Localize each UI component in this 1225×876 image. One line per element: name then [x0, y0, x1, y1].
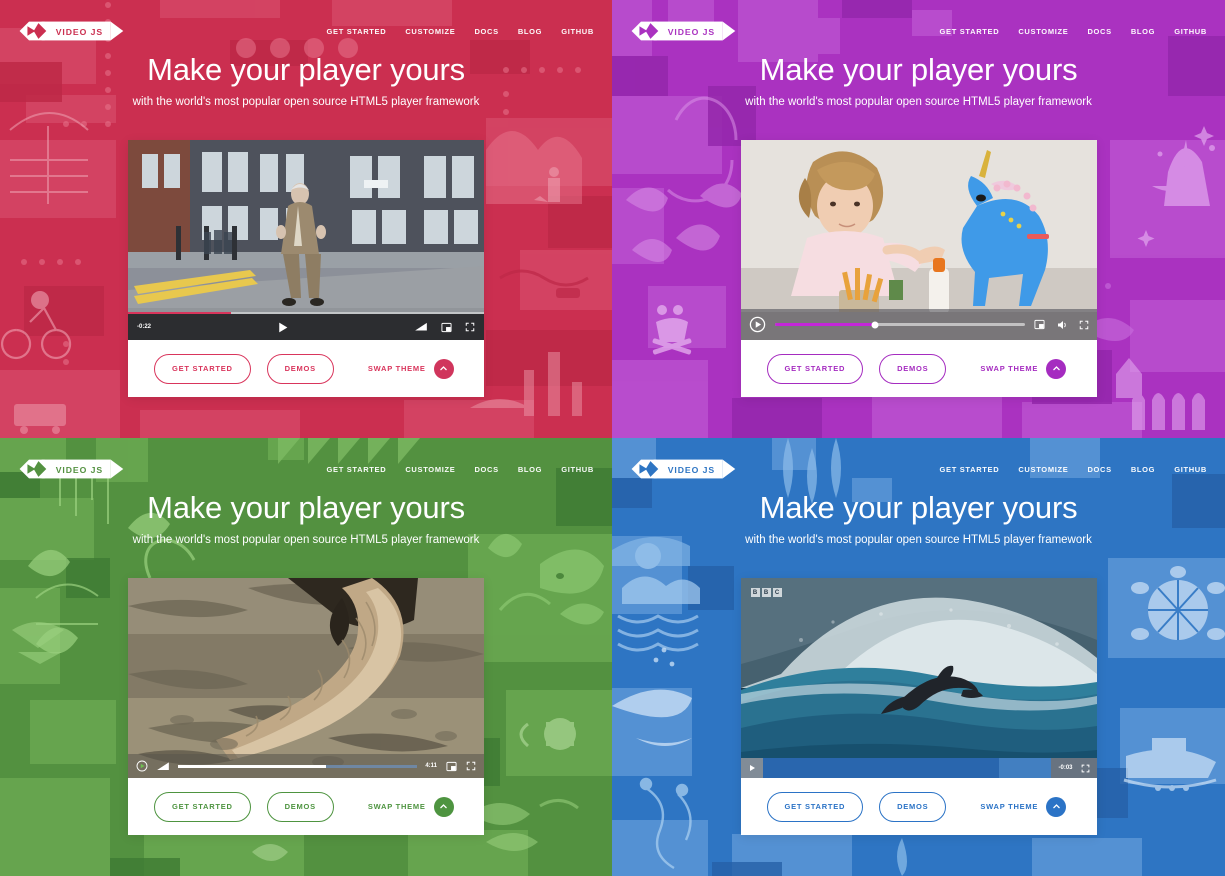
- svg-text:VIDEO JS: VIDEO JS: [56, 27, 103, 37]
- nav-link-docs[interactable]: DOCS: [1087, 27, 1111, 36]
- bbc-logo: B B C: [751, 588, 782, 597]
- theme-gallery-grid: VIDEO JS GET STARTED CUSTOMIZE DOCS BLOG…: [0, 0, 1225, 876]
- player-card-red: -0:22: [128, 140, 484, 397]
- swap-theme-label: SWAP THEME: [980, 802, 1038, 811]
- play-icon[interactable]: [136, 760, 148, 772]
- nav-link-blog[interactable]: BLOG: [518, 465, 542, 474]
- progress-bar[interactable]: [128, 312, 484, 314]
- swap-theme-label: SWAP THEME: [368, 364, 426, 373]
- theme-panel-blue: VIDEO JS GET STARTED CUSTOMIZE DOCS BLOG…: [612, 438, 1225, 876]
- chevron-up-icon[interactable]: [1046, 797, 1066, 817]
- swap-theme-label: SWAP THEME: [368, 802, 426, 811]
- nav-link-get-started[interactable]: GET STARTED: [940, 27, 1000, 36]
- chevron-up-icon[interactable]: [434, 797, 454, 817]
- player-card-green: 4:11 GET STARTED DEMOS SWAP THEME: [128, 578, 484, 835]
- play-icon: [748, 764, 756, 772]
- swap-theme-control[interactable]: SWAP THEME: [368, 359, 454, 379]
- video-still-dolphin-wave: [741, 578, 1097, 778]
- time-display: 4:11: [425, 763, 437, 769]
- videojs-logo-icon: VIDEO JS: [18, 458, 136, 480]
- action-bar: GET STARTED DEMOS SWAP THEME: [128, 778, 484, 835]
- play-button[interactable]: [741, 758, 763, 778]
- nav-link-docs[interactable]: DOCS: [474, 465, 498, 474]
- nav-link-get-started[interactable]: GET STARTED: [940, 465, 1000, 474]
- nav-link-github[interactable]: GITHUB: [561, 465, 594, 474]
- theme-panel-green: VIDEO JS GET STARTED CUSTOMIZE DOCS BLOG…: [0, 438, 612, 876]
- swap-theme-control[interactable]: SWAP THEME: [980, 797, 1066, 817]
- player-card-purple: GET STARTED DEMOS SWAP THEME: [741, 140, 1097, 397]
- fullscreen-icon[interactable]: [1081, 764, 1090, 773]
- get-started-button[interactable]: GET STARTED: [154, 354, 251, 384]
- video-still-elephant-trunk: [128, 578, 484, 778]
- action-bar: GET STARTED DEMOS SWAP THEME: [128, 340, 484, 397]
- get-started-button[interactable]: GET STARTED: [767, 792, 864, 822]
- player-card-blue: B B C -0:03: [741, 578, 1097, 835]
- videojs-logo-icon: VIDEO JS: [630, 20, 748, 42]
- get-started-button[interactable]: GET STARTED: [767, 354, 864, 384]
- progress-bar[interactable]: [178, 765, 417, 768]
- demos-button[interactable]: DEMOS: [267, 792, 334, 822]
- theme-panel-purple: VIDEO JS GET STARTED CUSTOMIZE DOCS BLOG…: [612, 0, 1225, 438]
- nav-link-github[interactable]: GITHUB: [1174, 465, 1207, 474]
- fullscreen-icon[interactable]: [465, 322, 475, 332]
- progress-bar[interactable]: [775, 323, 1025, 326]
- nav-link-get-started[interactable]: GET STARTED: [327, 465, 387, 474]
- main-nav: GET STARTED CUSTOMIZE DOCS BLOG GITHUB: [327, 27, 594, 36]
- videojs-logo[interactable]: VIDEO JS: [630, 458, 748, 480]
- video-player-blue[interactable]: B B C -0:03: [741, 578, 1097, 778]
- player-controls-blue[interactable]: -0:03: [741, 758, 1097, 778]
- svg-text:VIDEO JS: VIDEO JS: [56, 465, 103, 475]
- nav-link-github[interactable]: GITHUB: [1174, 27, 1207, 36]
- video-player-purple[interactable]: [741, 140, 1097, 340]
- action-bar: GET STARTED DEMOS SWAP THEME: [741, 340, 1097, 397]
- play-icon[interactable]: [749, 316, 766, 333]
- nav-link-blog[interactable]: BLOG: [1131, 465, 1155, 474]
- picture-in-picture-icon[interactable]: [1034, 319, 1045, 330]
- play-icon[interactable]: [276, 321, 289, 334]
- volume-icon[interactable]: [156, 761, 170, 772]
- nav-link-customize[interactable]: CUSTOMIZE: [1018, 27, 1068, 36]
- progress-bar[interactable]: [763, 758, 1052, 778]
- nav-link-customize[interactable]: CUSTOMIZE: [1018, 465, 1068, 474]
- site-header: VIDEO JS GET STARTED CUSTOMIZE DOCS BLOG…: [0, 438, 612, 500]
- nav-link-get-started[interactable]: GET STARTED: [327, 27, 387, 36]
- videojs-logo-icon: VIDEO JS: [630, 458, 748, 480]
- theme-panel-red: VIDEO JS GET STARTED CUSTOMIZE DOCS BLOG…: [0, 0, 612, 438]
- demos-button[interactable]: DEMOS: [267, 354, 334, 384]
- site-header: VIDEO JS GET STARTED CUSTOMIZE DOCS BLOG…: [612, 0, 1225, 62]
- videojs-logo[interactable]: VIDEO JS: [18, 20, 136, 42]
- bbc-letter-b2: B: [762, 588, 771, 597]
- nav-link-blog[interactable]: BLOG: [1131, 27, 1155, 36]
- nav-link-blog[interactable]: BLOG: [518, 27, 542, 36]
- video-player-red[interactable]: -0:22: [128, 140, 484, 340]
- videojs-logo[interactable]: VIDEO JS: [630, 20, 748, 42]
- page-subtitle: with the world's most popular open sourc…: [0, 534, 612, 546]
- volume-icon[interactable]: [1056, 319, 1068, 331]
- videojs-logo-icon: VIDEO JS: [18, 20, 136, 42]
- page-subtitle: with the world's most popular open sourc…: [612, 96, 1225, 108]
- time-remaining: -0:22: [137, 324, 151, 330]
- main-nav: GET STARTED CUSTOMIZE DOCS BLOG GITHUB: [940, 465, 1207, 474]
- swap-theme-label: SWAP THEME: [980, 364, 1038, 373]
- page-subtitle: with the world's most popular open sourc…: [612, 534, 1225, 546]
- volume-icon[interactable]: [414, 321, 428, 333]
- player-controls-red[interactable]: -0:22: [128, 314, 484, 340]
- main-nav: GET STARTED CUSTOMIZE DOCS BLOG GITHUB: [940, 27, 1207, 36]
- svg-text:VIDEO JS: VIDEO JS: [668, 27, 715, 37]
- chevron-up-icon[interactable]: [1046, 359, 1066, 379]
- player-controls-green[interactable]: 4:11: [128, 754, 484, 778]
- nav-link-docs[interactable]: DOCS: [474, 27, 498, 36]
- video-still-street-man: [128, 140, 484, 340]
- picture-in-picture-icon[interactable]: [446, 761, 457, 772]
- swap-theme-control[interactable]: SWAP THEME: [368, 797, 454, 817]
- picture-in-picture-icon[interactable]: [441, 322, 452, 333]
- site-header: VIDEO JS GET STARTED CUSTOMIZE DOCS BLOG…: [612, 438, 1225, 500]
- get-started-button[interactable]: GET STARTED: [154, 792, 251, 822]
- action-bar: GET STARTED DEMOS SWAP THEME: [741, 778, 1097, 835]
- nav-link-github[interactable]: GITHUB: [561, 27, 594, 36]
- site-header: VIDEO JS GET STARTED CUSTOMIZE DOCS BLOG…: [0, 0, 612, 62]
- demos-button[interactable]: DEMOS: [879, 792, 946, 822]
- nav-link-customize[interactable]: CUSTOMIZE: [405, 465, 455, 474]
- chevron-up-icon[interactable]: [434, 359, 454, 379]
- fullscreen-icon[interactable]: [1079, 320, 1089, 330]
- time-remaining: -0:03: [1058, 765, 1072, 771]
- nav-link-customize[interactable]: CUSTOMIZE: [405, 27, 455, 36]
- progress-handle[interactable]: [871, 321, 878, 328]
- player-controls-purple[interactable]: [741, 309, 1097, 340]
- page-subtitle: with the world's most popular open sourc…: [0, 96, 612, 108]
- demos-button[interactable]: DEMOS: [879, 354, 946, 384]
- main-nav: GET STARTED CUSTOMIZE DOCS BLOG GITHUB: [327, 465, 594, 474]
- nav-link-docs[interactable]: DOCS: [1087, 465, 1111, 474]
- bbc-letter-c: C: [773, 588, 782, 597]
- video-player-green[interactable]: 4:11: [128, 578, 484, 778]
- swap-theme-control[interactable]: SWAP THEME: [980, 359, 1066, 379]
- svg-text:VIDEO JS: VIDEO JS: [668, 465, 715, 475]
- videojs-logo[interactable]: VIDEO JS: [18, 458, 136, 480]
- bbc-letter-b1: B: [751, 588, 760, 597]
- fullscreen-icon[interactable]: [466, 761, 476, 771]
